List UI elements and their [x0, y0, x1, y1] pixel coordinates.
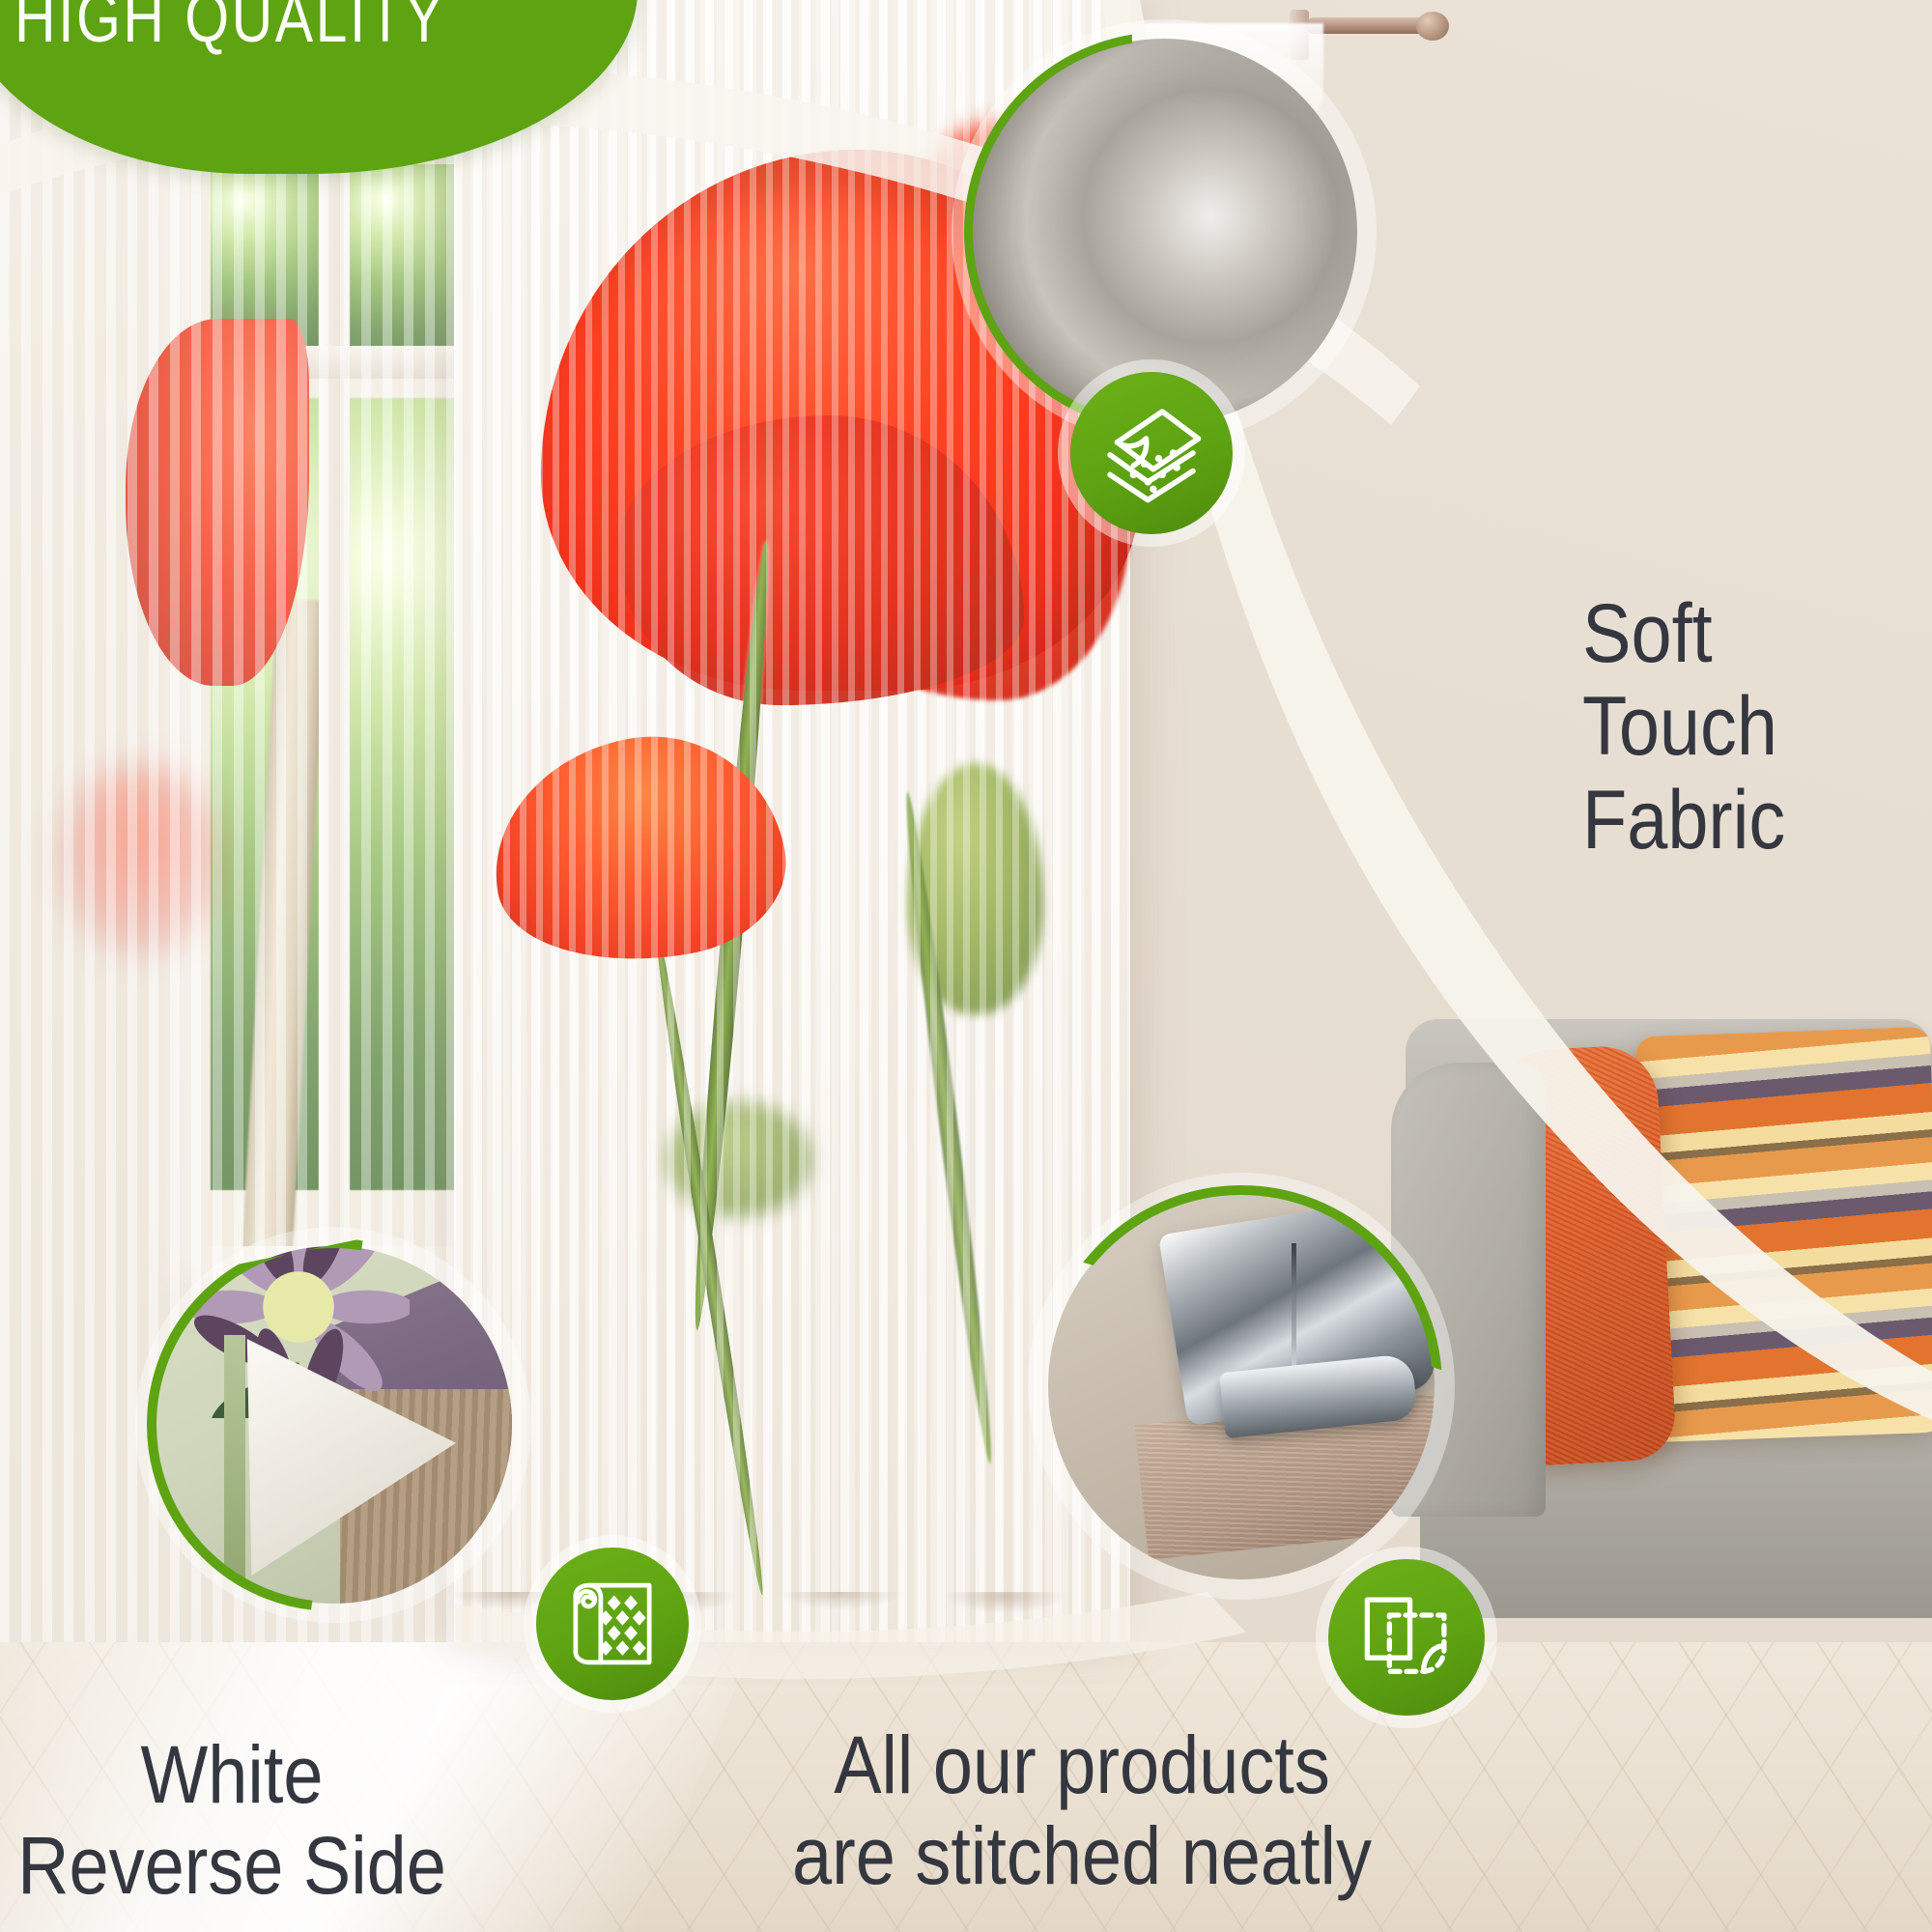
- striped-pillow: [1635, 1027, 1932, 1442]
- curtain-rod-finial: [1416, 12, 1449, 41]
- fabric-roll-icon: [536, 1548, 689, 1700]
- caption-soft-touch-fabric: Soft Touch Fabric: [1582, 587, 1890, 867]
- stitched-panels-icon: [1328, 1559, 1485, 1716]
- curtain-rod: [1306, 17, 1430, 34]
- fabric-layers-icon: [1070, 372, 1233, 534]
- caption-white-reverse-side: White Reverse Side: [11, 1729, 453, 1911]
- product-infographic: HIGH QUALITY Soft Touch Fabric White Rev…: [0, 0, 1932, 1932]
- high-quality-badge-label: HIGH QUALITY: [14, 0, 445, 58]
- caption-stitched-neatly: All our products are stitched neatly: [699, 1719, 1464, 1901]
